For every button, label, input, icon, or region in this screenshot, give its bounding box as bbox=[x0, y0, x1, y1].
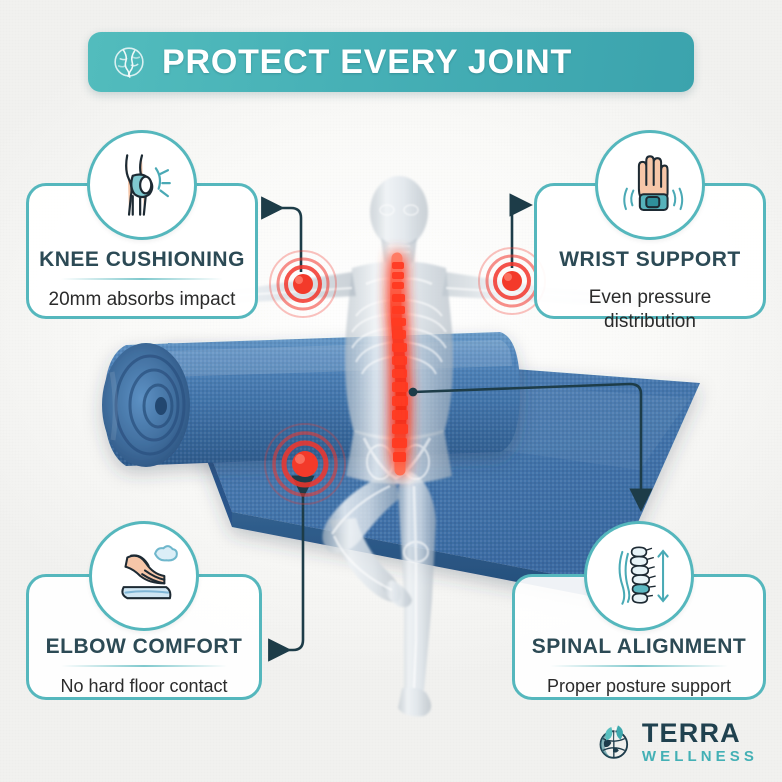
left-wrist-joint-marker[interactable] bbox=[267, 248, 339, 320]
card-desc-knee: 20mm absorbs impact bbox=[37, 288, 248, 312]
page-title: PROTECT EVERY JOINT bbox=[162, 43, 572, 82]
logo-primary-text: TERRA bbox=[642, 720, 758, 747]
hand-wrist-brace-icon-badge bbox=[595, 130, 705, 240]
card-divider bbox=[61, 278, 224, 280]
feature-card-elbow[interactable]: ELBOW COMFORT No hard floor contact bbox=[26, 574, 262, 700]
card-title-wrist: WRIST SUPPORT bbox=[559, 248, 741, 271]
card-desc-wrist: Even pressure distribution bbox=[537, 286, 763, 334]
hand-wrist-brace-icon bbox=[613, 148, 687, 222]
logo-secondary-text: WELLNESS bbox=[642, 749, 758, 764]
infographic-canvas: PROTECT EVERY JOINT KNEE CUSHIONING bbox=[0, 0, 782, 782]
knee-joint-icon bbox=[105, 148, 179, 222]
card-desc-spine: Proper posture support bbox=[535, 675, 743, 698]
joint-icon bbox=[110, 43, 148, 81]
header-banner: PROTECT EVERY JOINT bbox=[88, 32, 694, 92]
card-title-spine: SPINAL ALIGNMENT bbox=[532, 635, 747, 658]
brand-logo: TERRA WELLNESS bbox=[593, 720, 758, 764]
card-divider bbox=[550, 665, 729, 666]
feature-card-spine[interactable]: SPINAL ALIGNMENT Proper posture support bbox=[512, 574, 766, 700]
logo-wordmark: TERRA WELLNESS bbox=[642, 720, 758, 764]
elbow-on-cushion-icon-badge bbox=[89, 521, 199, 631]
card-divider bbox=[61, 665, 227, 666]
knee-joint-icon-badge bbox=[87, 130, 197, 240]
knee-joint-marker[interactable] bbox=[262, 421, 348, 507]
spine-icon bbox=[602, 539, 676, 613]
card-desc-elbow: No hard floor contact bbox=[48, 675, 239, 698]
card-title-knee: KNEE CUSHIONING bbox=[39, 248, 245, 271]
globe-leaf-icon bbox=[593, 722, 633, 762]
elbow-on-cushion-icon bbox=[107, 539, 181, 613]
feature-card-wrist[interactable]: WRIST SUPPORT Even pressure distribution bbox=[534, 183, 766, 319]
spine-icon-badge bbox=[584, 521, 694, 631]
card-title-elbow: ELBOW COMFORT bbox=[46, 635, 243, 658]
feature-card-knee[interactable]: KNEE CUSHIONING 20mm absorbs impact bbox=[26, 183, 258, 319]
